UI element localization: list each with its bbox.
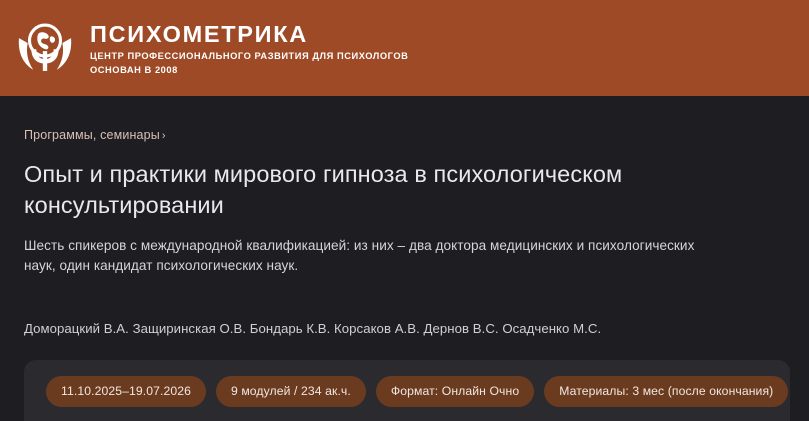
brand-tagline: ЦЕНТР ПРОФЕССИОНАЛЬНОГО РАЗВИТИЯ ДЛЯ ПСИ… [90,50,408,63]
brand-founded-year: ОСНОВАН В 2008 [90,64,408,77]
main-content: Программы, семинары› Опыт и практики мир… [0,96,809,339]
breadcrumb-programs-seminars[interactable]: Программы, семинары› [24,129,166,142]
page-subtitle: Шесть спикеров с международной квалифика… [24,236,724,278]
format-pill: Формат: Онлайн Очно [376,376,534,407]
page-title: Опыт и практики мирового гипноза в психо… [24,159,724,222]
globe-psi-hands-logo-icon[interactable] [14,17,76,79]
brand-text-block: ПСИХОМЕТРИКА ЦЕНТР ПРОФЕССИОНАЛЬНОГО РАЗ… [90,19,408,77]
course-info-pill-row: 11.10.2025–19.07.2026 9 модулей / 234 ак… [46,376,768,407]
course-info-card: 11.10.2025–19.07.2026 9 модулей / 234 ак… [24,360,790,421]
materials-pill: Материалы: 3 мес (после окончания) [544,376,788,407]
modules-pill: 9 модулей / 234 ак.ч. [216,376,366,407]
site-header: ПСИХОМЕТРИКА ЦЕНТР ПРОФЕССИОНАЛЬНОГО РАЗ… [0,0,809,96]
brand-name: ПСИХОМЕТРИКА [90,21,408,47]
chevron-right-icon: › [162,130,166,142]
breadcrumb-label: Программы, семинары [24,128,160,142]
dates-pill: 11.10.2025–19.07.2026 [46,376,206,407]
page-root: ПСИХОМЕТРИКА ЦЕНТР ПРОФЕССИОНАЛЬНОГО РАЗ… [0,0,809,421]
speakers-list: Доморацкий В.А. Защиринская О.В. Бондарь… [24,320,785,338]
